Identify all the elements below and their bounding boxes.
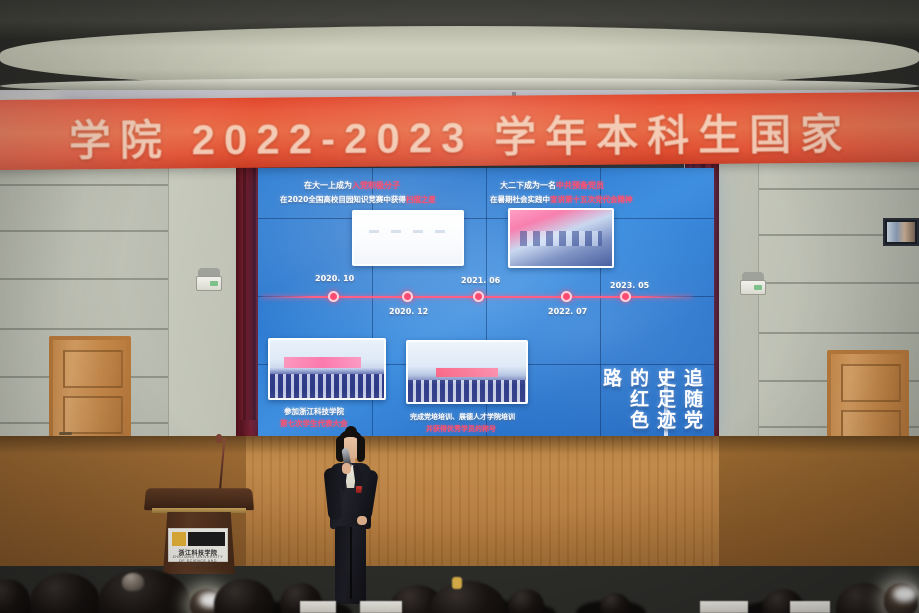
timeline-date: 2023. 05 bbox=[610, 281, 649, 290]
audience-head bbox=[98, 569, 190, 613]
timeline-dot bbox=[473, 291, 484, 302]
timeline-dot bbox=[402, 291, 413, 302]
speaker-bracket bbox=[742, 272, 764, 280]
slide-block2-line2: 在暑期社会实践中宣讲第十五次党代会精神 bbox=[490, 194, 633, 205]
slide-photo-activity bbox=[508, 208, 614, 268]
audience-head bbox=[214, 579, 274, 613]
speaker-bracket bbox=[198, 268, 220, 276]
audience-head bbox=[884, 583, 918, 613]
banner-text: 学院 2022-2023 学年本科生国家 bbox=[0, 100, 919, 169]
auditorium-scene: 在大一上成为入党积极分子 在2020全国高校目园知识竞赛中获得扫描之星 大二下成… bbox=[0, 0, 919, 613]
slide-photo-certificate bbox=[352, 210, 464, 266]
slide-block1-line2: 在2020全国高校目园知识竞赛中获得扫描之星 bbox=[280, 194, 436, 205]
timeline-date: 2020. 10 bbox=[315, 274, 354, 283]
door-panel bbox=[63, 350, 123, 388]
slide-vertical-title: 追随党史足迹的红色路 bbox=[598, 368, 706, 436]
audience-head bbox=[600, 593, 630, 613]
timeline-dot bbox=[328, 291, 339, 302]
audience-head bbox=[30, 573, 100, 613]
wall-speaker-control-unit[interactable] bbox=[196, 276, 222, 291]
podium-microphone-head bbox=[216, 434, 222, 443]
timeline-date: 2022. 07 bbox=[548, 307, 587, 316]
door-panel bbox=[841, 364, 901, 402]
monitor-screen-content bbox=[887, 222, 915, 242]
door-handle-icon[interactable] bbox=[59, 432, 72, 435]
left-wall-column bbox=[168, 160, 240, 460]
wall-speaker-control-unit[interactable] bbox=[740, 280, 766, 295]
audience-head bbox=[430, 581, 506, 613]
timeline-dot bbox=[620, 291, 631, 302]
presenter-hair-right bbox=[357, 436, 365, 462]
slide-caption2-line1: 完成党培培训、展德人才学院培训 bbox=[410, 412, 515, 422]
presenter-hand-right bbox=[357, 516, 367, 525]
audience-paper bbox=[700, 601, 748, 613]
timeline-date: 2021. 06 bbox=[461, 276, 500, 285]
presenter-hand-left bbox=[342, 463, 351, 474]
audience-paper bbox=[790, 601, 830, 613]
audience-head bbox=[508, 589, 544, 613]
slide-caption1-line2: 第七次学生代表大会 bbox=[280, 418, 348, 429]
wall-monitor bbox=[883, 218, 919, 246]
audience-object-yellow bbox=[452, 577, 462, 589]
audience-head bbox=[122, 573, 144, 591]
audience-head bbox=[0, 579, 30, 613]
slide-block1-line1: 在大一上成为入党积极分子 bbox=[304, 180, 400, 191]
presentation-slide: 在大一上成为入党积极分子 在2020全国高校目园知识竞赛中获得扫描之星 大二下成… bbox=[258, 168, 714, 436]
door-panel bbox=[63, 396, 123, 434]
projection-screen: 在大一上成为入党积极分子 在2020全国高校目园知识竞赛中获得扫描之星 大二下成… bbox=[258, 168, 714, 436]
unit-indicator-icon bbox=[210, 281, 218, 286]
slide-caption1-line1: 参加浙江科技学院 bbox=[284, 406, 344, 417]
unit-indicator-icon bbox=[754, 285, 762, 290]
slide-photo-student-congress bbox=[268, 338, 386, 400]
audience-paper bbox=[300, 601, 336, 613]
timeline-dot bbox=[561, 291, 572, 302]
slide-block2-line1: 大二下成为一名中共预备党员 bbox=[500, 180, 604, 191]
event-banner: 学院 2022-2023 学年本科生国家 bbox=[0, 92, 919, 170]
podium-top bbox=[144, 488, 254, 510]
slide-caption2-line2: 并获得优秀学员的称号 bbox=[426, 424, 496, 434]
audience-row bbox=[0, 538, 919, 613]
audience-paper bbox=[360, 601, 402, 613]
timeline-date: 2020. 12 bbox=[389, 307, 428, 316]
slide-photo-training bbox=[406, 340, 528, 404]
stage-shadow bbox=[0, 436, 919, 454]
